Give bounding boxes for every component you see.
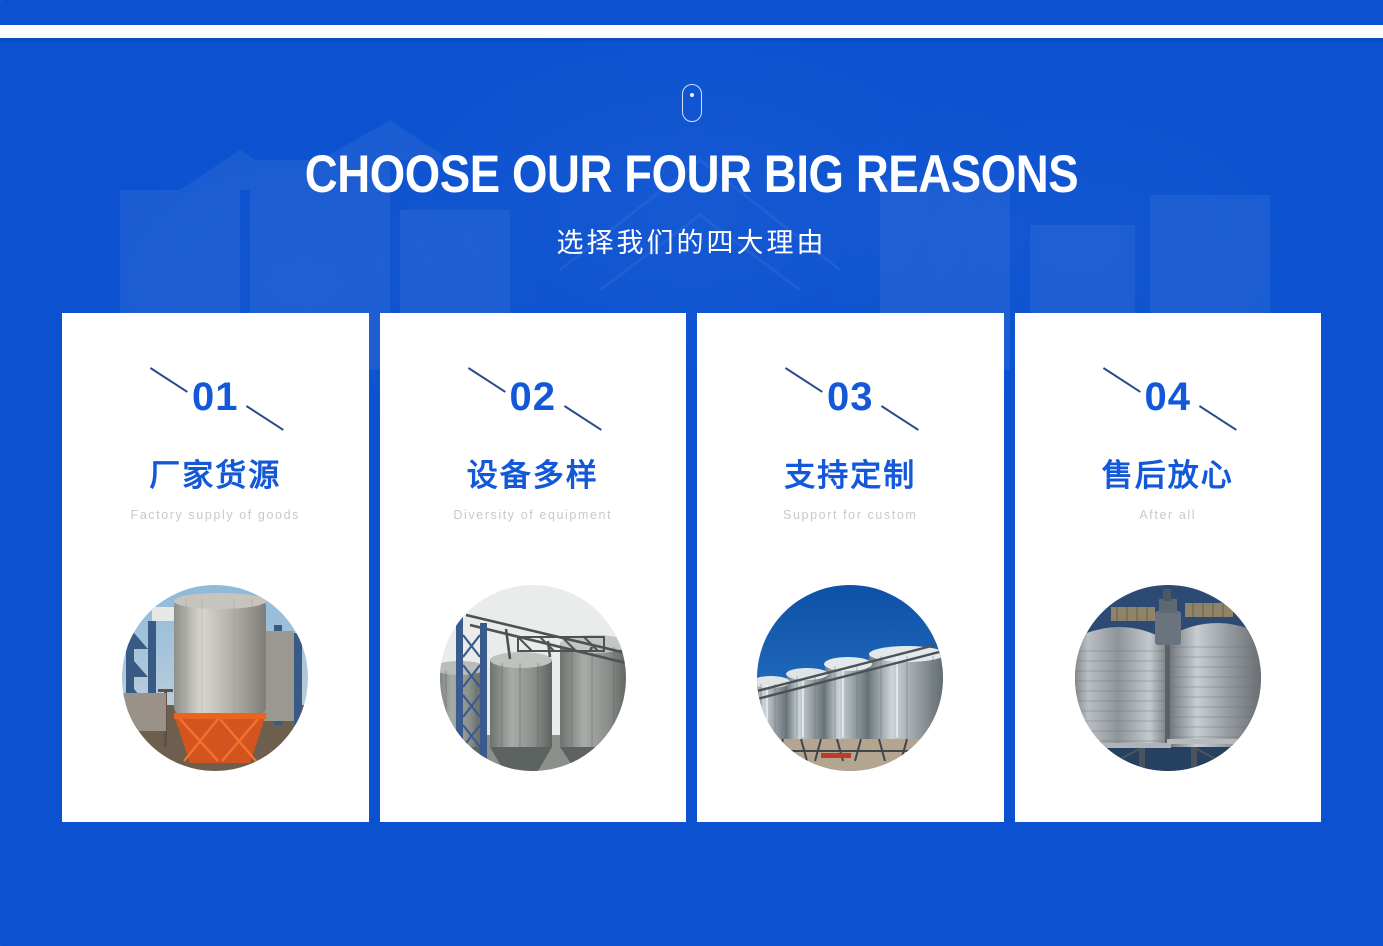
card-number: 02 (510, 377, 557, 417)
page-title-english: CHOOSE OUR FOUR BIG REASONS (97, 148, 1286, 201)
page-title-chinese: 选择我们的四大理由 (0, 221, 1383, 260)
reason-card[interactable]: 02 设备多样 Diversity of equipment (380, 313, 687, 822)
card-photo-silo-orange-frame (122, 585, 308, 771)
section-header: CHOOSE OUR FOUR BIG REASONS 选择我们的四大理由 (0, 84, 1383, 260)
decor-slash-bottom-right-icon (881, 406, 919, 431)
decor-slash-bottom-right-icon (246, 406, 284, 431)
card-title-chinese: 设备多样 (467, 450, 599, 495)
card-photo-silo-row-blue-sky (757, 585, 943, 771)
card-number-group: 04 (1088, 373, 1248, 421)
reason-card[interactable]: 01 厂家货源 Factory supply of goods (62, 313, 369, 822)
reason-card-list: 01 厂家货源 Factory supply of goods (62, 313, 1321, 822)
card-title-chinese: 厂家货源 (149, 450, 281, 495)
card-title-chinese: 支持定制 (784, 450, 916, 495)
card-number: 04 (1145, 377, 1192, 417)
reason-card[interactable]: 03 支持定制 Support for custom (697, 313, 1004, 822)
card-number-group: 03 (770, 373, 930, 421)
card-number-group: 01 (135, 373, 295, 421)
card-number: 01 (192, 377, 239, 417)
card-title-english: Factory supply of goods (115, 507, 315, 524)
top-white-stripe (0, 25, 1383, 38)
card-photo-closeup-steel-silos (1075, 585, 1261, 771)
card-number-group: 02 (453, 373, 613, 421)
decor-slash-bottom-right-icon (1199, 406, 1237, 431)
card-title-english: Support for custom (750, 507, 950, 524)
mouse-scroll-icon (682, 84, 702, 122)
card-title-english: After all (1068, 507, 1268, 524)
decor-slash-top-left-icon (468, 367, 506, 392)
top-stripe-shadow (0, 38, 1383, 42)
decor-slash-top-left-icon (785, 367, 823, 392)
decor-slash-top-left-icon (150, 367, 188, 392)
card-number: 03 (827, 377, 874, 417)
reason-card[interactable]: 04 售后放心 After all (1015, 313, 1322, 822)
decor-slash-top-left-icon (1103, 367, 1141, 392)
decor-slash-bottom-right-icon (564, 406, 602, 431)
card-title-english: Diversity of equipment (433, 507, 633, 524)
card-photo-silos-conveyor (440, 585, 626, 771)
card-title-chinese: 售后放心 (1102, 450, 1234, 495)
